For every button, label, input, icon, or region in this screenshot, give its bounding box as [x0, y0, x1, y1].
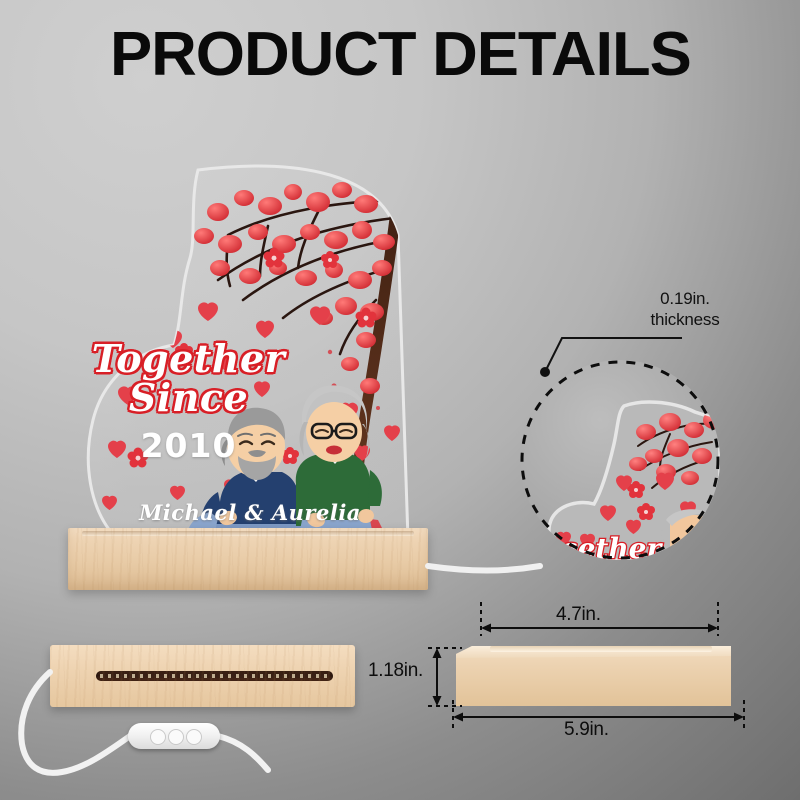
wooden-base-top-view	[50, 645, 355, 707]
magnifier-content: gether	[520, 360, 720, 560]
wood-grain-texture	[68, 528, 428, 590]
dimension-base-slot	[490, 646, 712, 652]
switch-button-3[interactable]	[186, 729, 202, 745]
plaque-artwork	[78, 140, 448, 550]
wood-grain-texture-top	[50, 645, 355, 707]
switch-button-2[interactable]	[168, 729, 184, 745]
page-title: PRODUCT DETAILS	[110, 24, 742, 86]
thickness-callout: 0.19in. thickness	[600, 288, 770, 331]
thickness-value: 0.19in.	[600, 288, 770, 309]
cable-tail	[218, 736, 268, 770]
thickness-label: thickness	[600, 309, 770, 330]
dimension-label-height: 1.18in.	[368, 660, 423, 682]
thickness-magnifier: gether	[520, 360, 720, 560]
wooden-base-front	[68, 528, 428, 590]
switch-button-1[interactable]	[150, 729, 166, 745]
main-base-cable	[428, 566, 540, 571]
magnified-edge-art: gether	[520, 360, 720, 560]
wooden-base-dimension-view	[456, 634, 731, 706]
acrylic-heart-plaque: Together Since 2010	[78, 140, 448, 550]
inline-switch-controller[interactable]	[128, 723, 220, 749]
dimension-label-slot-width: 4.7in.	[556, 604, 601, 626]
dimension-label-base-width: 5.9in.	[564, 719, 609, 741]
product-details-page: PRODUCT DETAILS	[0, 0, 800, 800]
